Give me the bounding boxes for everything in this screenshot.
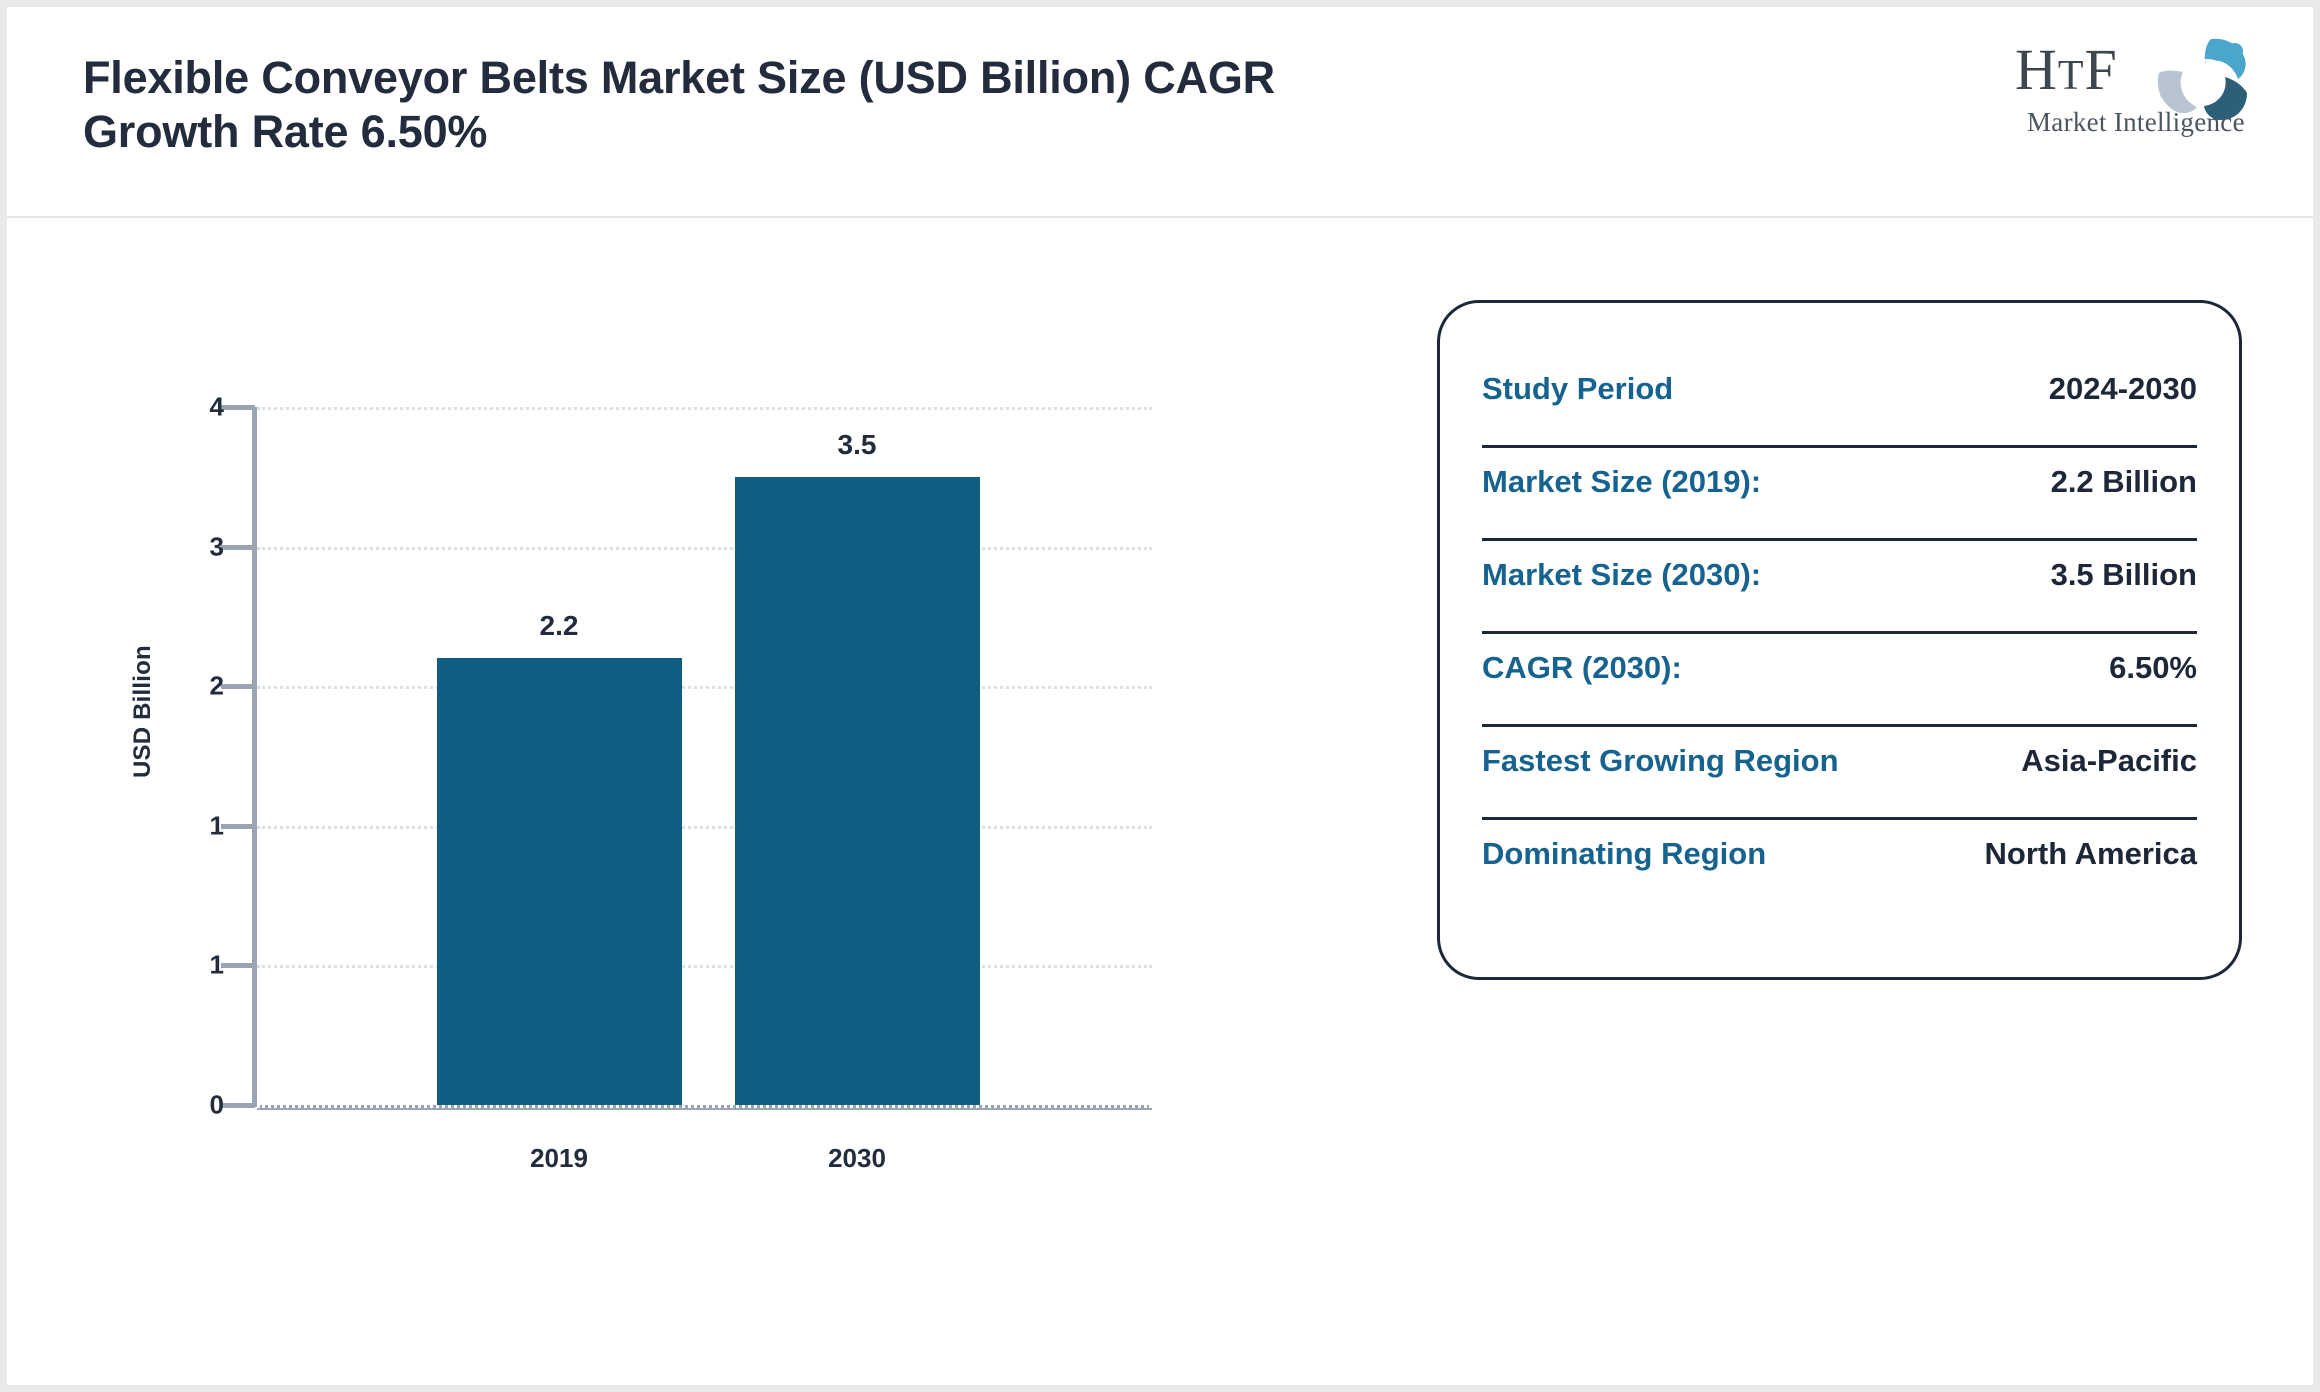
bar-value-label: 2.2 [469,610,649,642]
bar-value-label: 3.5 [767,429,947,461]
htf-logo: HTF Market Intelligence [2015,35,2255,145]
logo-letter-f: F [2085,37,2118,102]
logo-letter-t: T [2058,53,2085,99]
bar-chart: USD Billion 4321102.220193.52030 [7,218,1307,1383]
y-axis-tick-label: 1 [164,810,224,841]
summary-row-value: North America [1985,836,2197,872]
summary-row-value: 2024-2030 [2049,371,2197,407]
bar[interactable] [735,477,980,1105]
y-axis-tick-label: 3 [164,531,224,562]
summary-row: CAGR (2030):6.50% [1482,634,2197,727]
summary-row-label: CAGR (2030): [1482,650,1682,686]
summary-row-value: 6.50% [2109,650,2197,686]
y-axis-tick [221,1103,255,1108]
summary-row: Fastest Growing RegionAsia-Pacific [1482,727,2197,820]
summary-row-label: Dominating Region [1482,836,1766,872]
summary-row: Study Period2024-2030 [1482,355,2197,448]
summary-row-value: Asia-Pacific [2021,743,2197,779]
content-sheet: Flexible Conveyor Belts Market Size (USD… [7,7,2313,1385]
bar[interactable] [437,658,682,1105]
x-axis-category-label: 2019 [459,1143,659,1174]
logo-wordmark: HTF [2015,41,2118,99]
page-root: Flexible Conveyor Belts Market Size (USD… [0,0,2320,1392]
y-axis-tick [221,684,255,689]
summary-row-label: Market Size (2019): [1482,464,1761,500]
logo-tagline: Market Intelligence [2027,107,2245,138]
summary-row-value: 2.2 Billion [2051,464,2197,500]
gridline [257,965,1152,968]
y-axis-tick-label: 2 [164,671,224,702]
gridline [257,547,1152,550]
header: Flexible Conveyor Belts Market Size (USD… [7,7,2313,218]
y-axis-tick-label: 1 [164,950,224,981]
y-axis-tick-label: 4 [164,392,224,423]
y-axis-tick [221,405,255,410]
y-axis-tick-label: 0 [164,1090,224,1121]
page-title: Flexible Conveyor Belts Market Size (USD… [83,51,1383,159]
summary-row: Market Size (2019):2.2 Billion [1482,448,2197,541]
summary-row-label: Study Period [1482,371,1673,407]
summary-row-value: 3.5 Billion [2051,557,2197,593]
logo-letter-h: H [2015,37,2058,102]
x-axis-baseline [257,1105,1152,1110]
plot-area: 4321102.220193.52030 [7,218,1307,1383]
x-axis-category-label: 2030 [757,1143,957,1174]
summary-row: Market Size (2030):3.5 Billion [1482,541,2197,634]
summary-row-label: Market Size (2030): [1482,557,1761,593]
y-axis-line [252,407,257,1107]
summary-row-label: Fastest Growing Region [1482,743,1839,779]
summary-row: Dominating RegionNorth America [1482,820,2197,913]
gridline [257,826,1152,829]
gridline [257,407,1152,410]
y-axis-tick [221,824,255,829]
market-summary-card: Study Period2024-2030Market Size (2019):… [1437,300,2242,980]
y-axis-tick [221,545,255,550]
y-axis-tick [221,963,255,968]
gridline [257,686,1152,689]
summary-row-list: Study Period2024-2030Market Size (2019):… [1482,355,2197,913]
